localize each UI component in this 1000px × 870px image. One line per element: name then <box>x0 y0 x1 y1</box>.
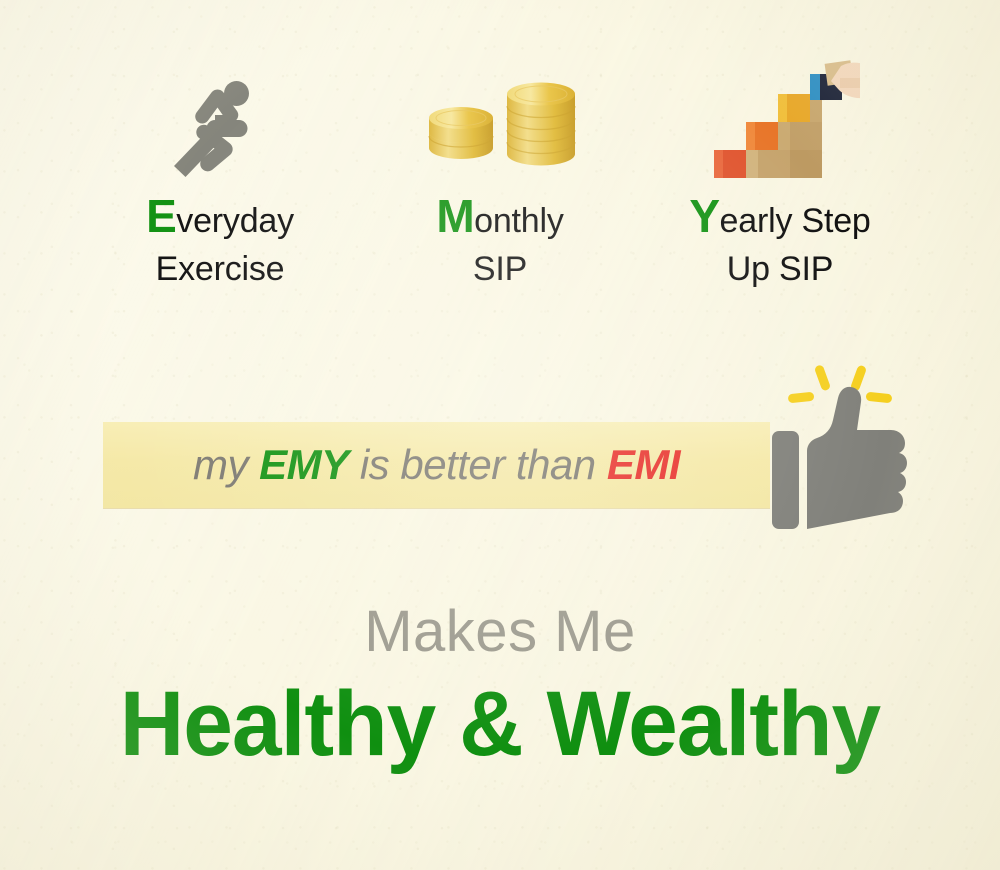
running-person-icon <box>168 60 272 178</box>
healthy-wealthy-headline: Healthy & Wealthy <box>15 672 985 777</box>
pillar-cap-letter: M <box>436 190 474 242</box>
pillar-everyday-exercise: Everyday Exercise <box>80 60 360 294</box>
banner-emi-word: EMI <box>607 441 680 488</box>
pillars-row: Everyday Exercise <box>0 60 1000 294</box>
pillar-rest-text: early Step <box>720 202 871 240</box>
pillar-second-line: Up SIP <box>689 245 870 293</box>
coin-stacks-icon <box>415 60 585 178</box>
pillar-second-line: Exercise <box>146 245 294 293</box>
pillar-second-line: SIP <box>436 245 563 293</box>
pillar-cap-letter: Y <box>689 190 719 242</box>
thumbs-up-icon <box>766 355 926 530</box>
pillar-yearly-step-up-sip: Yearly Step Up SIP <box>640 60 920 294</box>
banner-row: my EMY is better than EMI <box>0 355 1000 530</box>
pillar-rest-text: onthly <box>474 202 564 240</box>
pillar-cap-letter: E <box>146 190 176 242</box>
banner-middle: is better than <box>349 441 607 488</box>
pillar-label-everyday-exercise: Everyday Exercise <box>146 196 294 294</box>
pillar-rest-text: veryday <box>176 202 294 240</box>
banner-prefix: my <box>193 441 259 488</box>
pillar-label-monthly-sip: Monthly SIP <box>436 196 563 294</box>
banner-text: my EMY is better than EMI <box>193 441 680 489</box>
banner-emy-word: EMY <box>259 441 349 488</box>
pillar-monthly-sip: Monthly SIP <box>360 60 640 294</box>
emy-highlight-banner: my EMY is better than EMI <box>103 422 770 508</box>
pillar-label-yearly-step-up-sip: Yearly Step Up SIP <box>689 196 870 294</box>
makes-me-subtitle: Makes Me <box>0 598 1000 665</box>
stacking-blocks-stairs-icon <box>700 60 860 178</box>
